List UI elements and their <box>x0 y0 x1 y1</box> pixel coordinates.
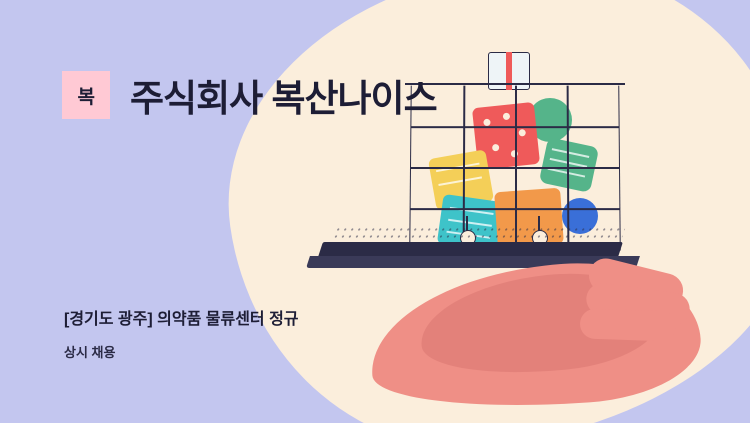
basket-rim <box>405 83 625 85</box>
company-logo-row: 복 주식회사 복산나이스 <box>62 68 437 122</box>
job-title: [경기도 광주] 의약품 물류센터 정규 <box>64 305 299 329</box>
job-recruitment-type: 상시 채용 <box>64 342 115 361</box>
company-name: 주식회사 복산나이스 <box>130 68 437 122</box>
job-posting-card: 복 주식회사 복산나이스 [경기도 광주] 의약품 물류센터 정규 상시 채용 <box>0 0 750 423</box>
logo-badge: 복 <box>62 71 110 119</box>
finger-3 <box>580 308 677 341</box>
